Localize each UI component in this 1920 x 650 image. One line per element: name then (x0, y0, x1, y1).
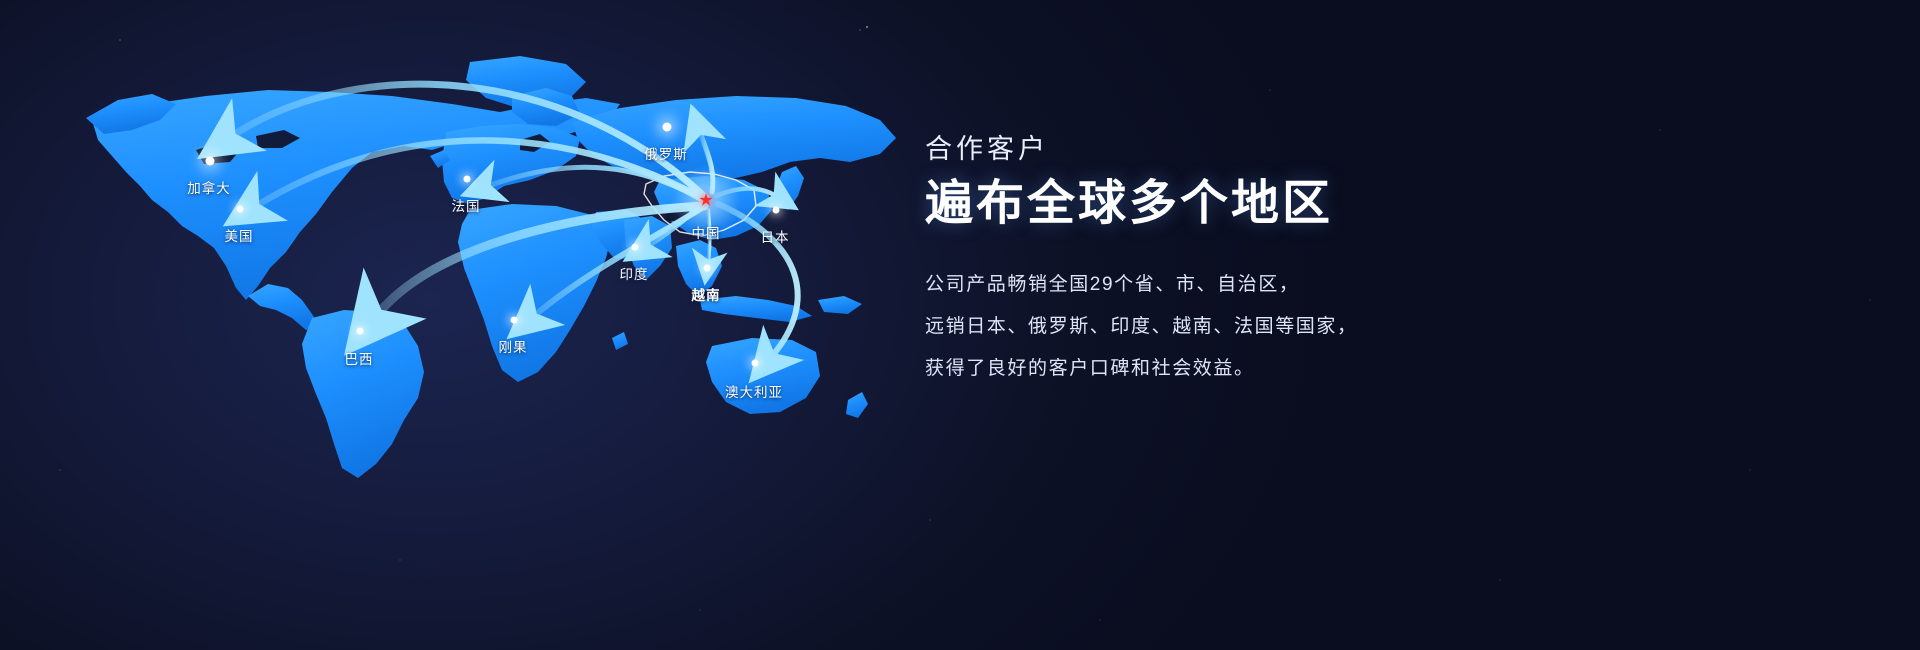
map-label-india: 印度 (620, 263, 649, 283)
landmasses (86, 56, 896, 478)
node-france (464, 176, 471, 183)
map-label-australia: 澳大利亚 (725, 381, 783, 401)
node-japan (773, 207, 780, 214)
map-label-usa: 美国 (225, 225, 254, 245)
panel-body-line-1: 公司产品畅销全国29个省、市、自治区， (925, 264, 1545, 306)
map-label-brazil: 巴西 (345, 348, 374, 368)
map-label-russia: 俄罗斯 (644, 143, 688, 163)
china-star-marker: ★ (698, 192, 713, 209)
node-india (632, 244, 639, 251)
map-label-japan: 日本 (761, 226, 790, 246)
panel-body-line-3: 获得了良好的客户口碑和社会效益。 (925, 348, 1545, 390)
node-vietnam (704, 265, 711, 272)
panel-headline: 遍布全球多个地区 (925, 177, 1545, 231)
map-label-congo: 刚果 (499, 336, 528, 356)
text-panel: 合作客户 遍布全球多个地区 公司产品畅销全国29个省、市、自治区， 远销日本、俄… (925, 135, 1545, 390)
panel-body-line-2: 远销日本、俄罗斯、印度、越南、法国等国家， (925, 306, 1545, 348)
node-australia (752, 360, 759, 367)
node-canada (206, 157, 215, 166)
node-brazil (357, 328, 364, 335)
world-map-banner: ★ 加拿大 美国 巴西 法国 刚果 俄罗斯 印度 中国 越南 日本 澳大利亚 合… (0, 0, 1920, 650)
node-usa (237, 206, 244, 213)
map-label-vietnam: 越南 (692, 284, 721, 304)
map-label-france: 法国 (452, 195, 481, 215)
node-russia (663, 123, 672, 132)
map-label-china: 中国 (692, 222, 721, 242)
node-congo (511, 317, 518, 324)
panel-eyebrow: 合作客户 (925, 135, 1545, 165)
map-label-canada: 加拿大 (187, 177, 231, 197)
